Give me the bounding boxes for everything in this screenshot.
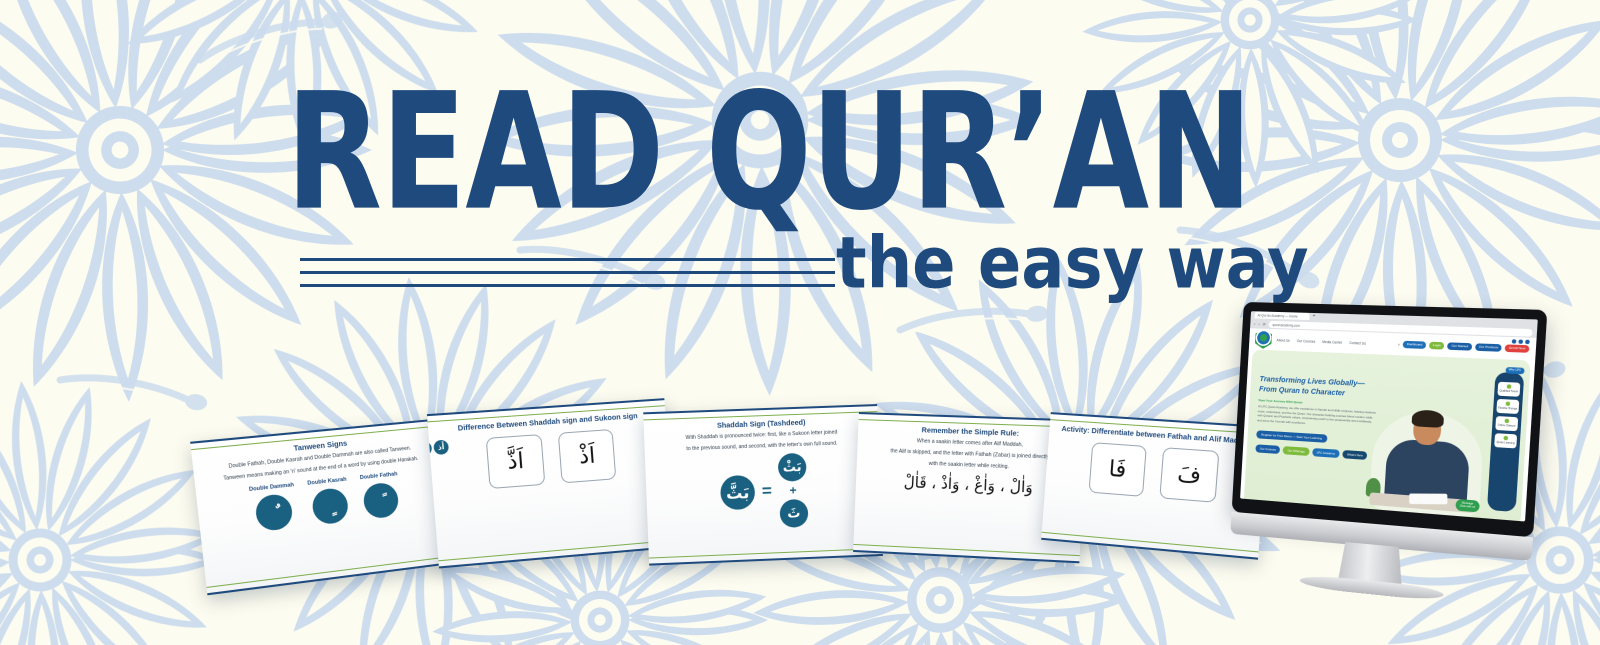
rail-card-label: Flexible Timings bbox=[1498, 407, 1517, 411]
rail-card-online-classes[interactable]: Online Classes bbox=[1495, 416, 1518, 431]
operand-bottom-icon: ثَ bbox=[779, 499, 808, 528]
rail-card-qualified-tutors[interactable]: Qualified Tutors bbox=[1497, 382, 1520, 397]
hero-section: Transforming Lives Globally— From Quran … bbox=[1244, 349, 1531, 521]
forward-icon[interactable]: › bbox=[1258, 322, 1260, 326]
shaddah-equation: بَثَّ = بَثْ + ثَ bbox=[719, 453, 808, 531]
tanween-item-double-kasrah[interactable]: Double Kasrah ٍ bbox=[307, 477, 351, 526]
browser-tab[interactable]: Al-Qur’an Academy — Home bbox=[1254, 312, 1309, 321]
simple-rule-examples: وَاٰلْ ، وَاٰغْ ، وَاٰذْ ، قَاٰلْ bbox=[903, 473, 1033, 497]
get-started-button[interactable]: Get Started bbox=[1448, 343, 1472, 350]
hero-title: Transforming Lives Globally— From Quran … bbox=[1259, 374, 1378, 399]
rail-card-label: Quran Learning bbox=[1496, 441, 1515, 445]
our-courses-button[interactable]: Our Courses bbox=[1255, 444, 1280, 454]
double-kasrah-glyph-icon: ٍ bbox=[310, 487, 349, 526]
double-dammah-glyph-icon: ٌ bbox=[254, 493, 294, 532]
double-fathah-glyph-icon: ً bbox=[362, 481, 400, 519]
tanween-circle-row: Double Dammah ٌ Double Kasrah ٍ Double F… bbox=[249, 471, 402, 532]
enroll-now-button[interactable]: Enroll Now bbox=[1505, 345, 1529, 353]
academy-logo-icon[interactable] bbox=[1255, 329, 1273, 349]
rail-card-quran-learning[interactable]: Quran Learning bbox=[1494, 433, 1517, 448]
nav-item-media-center[interactable]: Media Center bbox=[1322, 339, 1342, 344]
circle-label: Double Fathah bbox=[360, 471, 398, 482]
slide-body-line-3: with the saakin letter while reciting. bbox=[919, 460, 1018, 472]
rail-dot-icon bbox=[1503, 436, 1508, 441]
letter-box-fathah[interactable]: فَ bbox=[1159, 447, 1219, 503]
nav-item-about-us[interactable]: About Us bbox=[1276, 338, 1290, 343]
letter-box-shaddah[interactable]: اَذَّ bbox=[486, 434, 546, 489]
window-dots-icon bbox=[1512, 339, 1530, 344]
letter-box-alif-maddah[interactable]: فَا bbox=[1088, 442, 1146, 497]
tanween-item-double-fathah[interactable]: Double Fathah ً bbox=[360, 471, 402, 519]
equation-operands: بَثْ + ثَ bbox=[778, 453, 809, 528]
circle-label: Double Kasrah bbox=[307, 477, 347, 488]
desktop-monitor-mockup: Al-Qur’an Academy — Home + ‹ › ⟳ quranac… bbox=[1228, 302, 1556, 603]
back-icon[interactable]: ‹ bbox=[1254, 322, 1256, 326]
letter-box-row: اَذَّ اَذْ bbox=[486, 429, 617, 489]
slide-title: Remember the Simple Rule: bbox=[914, 425, 1026, 438]
monitor-bezel: Al-Qur’an Academy — Home + ‹ › ⟳ quranac… bbox=[1232, 302, 1548, 537]
rail-dot-icon bbox=[1506, 402, 1511, 407]
rail-card-label: Qualified Tutors bbox=[1499, 390, 1518, 394]
slide-card-shaddah-tashdeed[interactable]: Shaddah Sign (Tashdeed) With Shaddah is … bbox=[643, 404, 883, 566]
slide-title: Activity: Differentiate between Fathah a… bbox=[1054, 423, 1262, 446]
chat-widget-button[interactable]: Message Chat with us bbox=[1455, 498, 1480, 512]
plus-sign: + bbox=[789, 483, 797, 497]
reload-icon[interactable]: ⟳ bbox=[1262, 322, 1265, 326]
dashboard-button[interactable]: Dashboard bbox=[1403, 341, 1426, 348]
new-tab-icon[interactable]: + bbox=[1312, 314, 1315, 319]
nav-item-contact-us[interactable]: Contact Us bbox=[1349, 340, 1366, 345]
shaddah-sukoon-badge-group: ذْ أَذ bbox=[427, 440, 449, 457]
hero-copy: Transforming Lives Globally— From Quran … bbox=[1255, 374, 1377, 460]
slide-title: Difference Between Shaddah sign and Suko… bbox=[450, 411, 645, 434]
letter-box-row: فَا فَ bbox=[1088, 442, 1219, 503]
site-header-actions: ⌕ Dashboard Login Get Started Our Produc… bbox=[1398, 341, 1530, 352]
hero-cta-row: Our Courses Our Offerings LPC Academy Wh… bbox=[1255, 444, 1373, 460]
whats-new-button[interactable]: What's New bbox=[1342, 450, 1367, 460]
site-nav: About Us Our Courses Media Center Contac… bbox=[1276, 338, 1366, 345]
chat-line-2: Chat with us bbox=[1460, 505, 1476, 509]
rail-card-label: Online Classes bbox=[1498, 424, 1516, 428]
search-icon[interactable]: ⌕ bbox=[1398, 342, 1401, 347]
rail-dot-icon bbox=[1507, 385, 1512, 390]
lpc-academy-button[interactable]: LPC Academy bbox=[1312, 448, 1340, 458]
rail-dot-icon bbox=[1505, 419, 1510, 424]
login-button[interactable]: Login bbox=[1429, 342, 1445, 349]
our-offerings-button[interactable]: Our Offerings bbox=[1283, 446, 1309, 456]
equation-result-icon: بَثَّ bbox=[720, 475, 756, 510]
hero-paragraph: At LPC Quran Academy, we offer excellenc… bbox=[1257, 404, 1376, 429]
open-book-icon bbox=[1409, 494, 1447, 505]
monitor-screen: Al-Qur’an Academy — Home + ‹ › ⟳ quranac… bbox=[1240, 311, 1538, 521]
slide-title: Shaddah Sign (Tashdeed) bbox=[710, 417, 813, 430]
nav-item-our-courses[interactable]: Our Courses bbox=[1297, 339, 1316, 344]
our-products-button[interactable]: Our Products bbox=[1475, 344, 1502, 352]
website-viewport: About Us Our Courses Media Center Contac… bbox=[1240, 328, 1537, 521]
circle-label: Double Dammah bbox=[249, 482, 295, 494]
slide-card-shaddah-vs-sukoon[interactable]: Difference Between Shaddah sign and Suko… bbox=[427, 398, 676, 568]
equals-sign: = bbox=[762, 481, 773, 501]
badge-shaddah-icon: أَذ bbox=[433, 440, 449, 455]
person-hair bbox=[1411, 409, 1444, 428]
why-lpc-feature-rail: Why LPC Qualified Tutors Flexible Timing… bbox=[1487, 372, 1524, 512]
banner-root: READ QUR’AN the easy way Tanween Signs D… bbox=[0, 0, 1600, 645]
why-lpc-badge: Why LPC bbox=[1505, 367, 1525, 374]
rail-card-flexible-timings[interactable]: Flexible Timings bbox=[1496, 399, 1519, 414]
slide-body-line-2: the Alif is skipped, and the letter with… bbox=[881, 447, 1058, 462]
letter-box-sukoon[interactable]: اَذْ bbox=[558, 429, 617, 483]
register-free-demo-button[interactable]: Register for Free Demo — Start Your Lear… bbox=[1256, 431, 1327, 444]
operand-top-icon: بَثْ bbox=[778, 453, 807, 482]
tanween-item-double-dammah[interactable]: Double Dammah ٌ bbox=[249, 482, 299, 532]
